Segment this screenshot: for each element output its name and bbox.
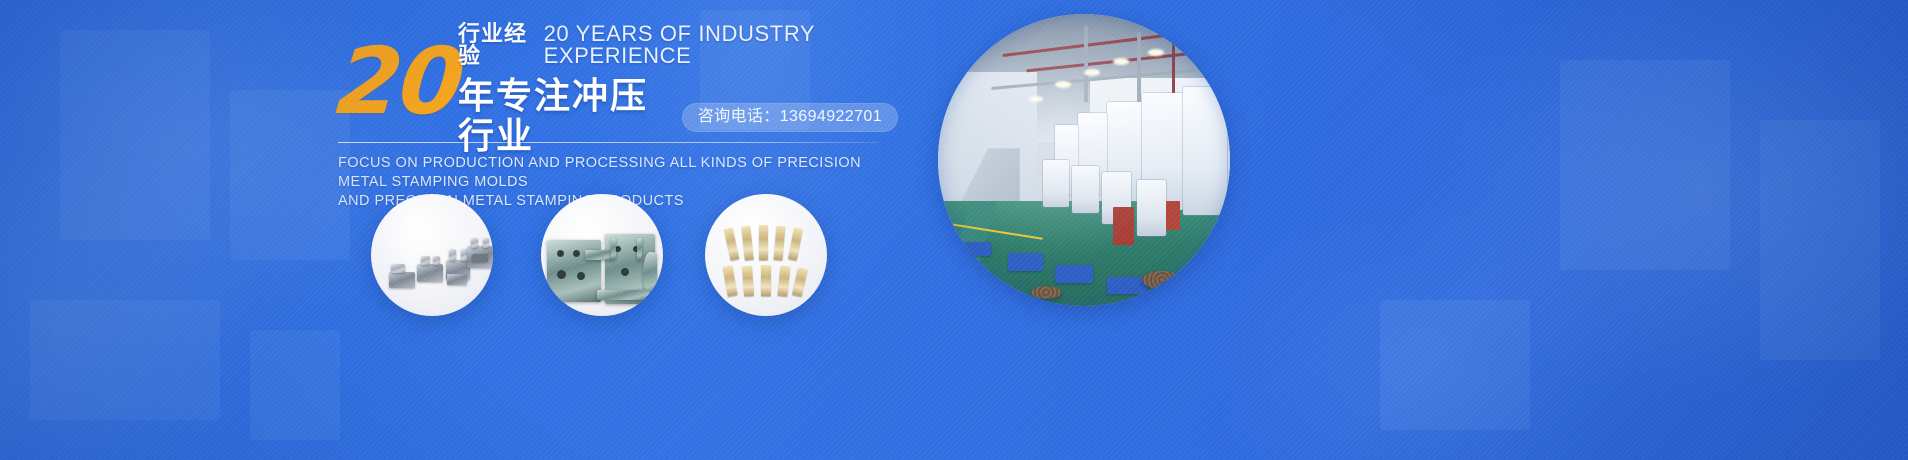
headline-copy-block: 20 行业经验 20 YEARS OF INDUSTRY EXPERIENCE … [338,38,898,211]
cn-experience-label: 行业经验 [458,24,535,68]
headline-text-group: 行业经验 20 YEARS OF INDUSTRY EXPERIENCE 年专注… [458,38,898,157]
product-circle-terminal-pins [705,194,827,316]
phone-badge[interactable]: 咨询电话：13694922701 [682,103,898,132]
en-headline: 20 YEARS OF INDUSTRY EXPERIENCE [544,23,898,68]
product-circle-stamping-mold [541,194,663,316]
years-number: 20 [333,36,467,128]
headline-line-2: 年专注冲压行业 咨询电话：13694922701 [458,77,898,157]
promotional-banner: 20 行业经验 20 YEARS OF INDUSTRY EXPERIENCE … [0,0,1908,460]
product-circle-usb-connectors [371,194,493,316]
cn-main-headline: 年专注冲压行业 [458,77,668,157]
headline-row: 20 行业经验 20 YEARS OF INDUSTRY EXPERIENCE … [338,38,898,126]
subtitle-line-1: FOCUS ON PRODUCTION AND PROCESSING ALL K… [338,154,898,192]
factory-photo-circle [938,14,1230,306]
headline-line-1: 行业经验 20 YEARS OF INDUSTRY EXPERIENCE [458,38,898,68]
